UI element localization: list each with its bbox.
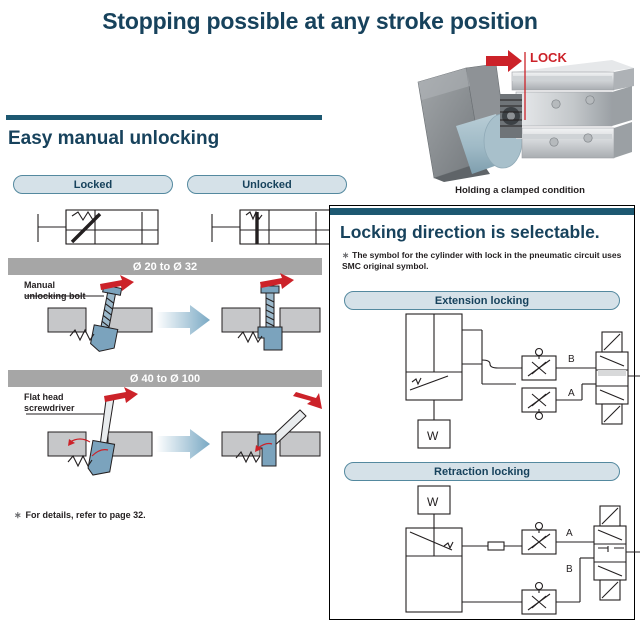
section-rule [6,115,322,120]
pill-retraction-locking-label: Retraction locking [434,466,530,478]
directional-valve [596,332,628,424]
state-pill-locked-label: Locked [74,179,113,191]
pill-extension-locking: Extension locking [344,291,620,310]
circuit-retraction-locking: W [336,484,628,618]
size-band-large-label: Ø 40 to Ø 100 [130,373,200,385]
footnote: ∗For details, refer to page 32. [14,510,146,521]
screwdriver-state-tilted [48,398,152,478]
panel-note-bullet: ∗ [342,250,349,260]
circuit-extension-locking: W [336,312,628,454]
rotate-arrow-right-2 [293,392,322,409]
screwdriver-state-lifted [222,410,320,466]
directional-valve [594,506,626,600]
state-pill-unlocked: Unlocked [187,175,347,194]
state-pill-unlocked-label: Unlocked [242,179,292,191]
illustration-bolt-unlocking [8,272,322,368]
panel-title: Locking direction is selectable. [340,222,600,243]
product-photo: LOCK [404,42,636,182]
size-band-small-label: Ø 20 to Ø 32 [133,261,197,273]
state-pill-locked: Locked [13,175,173,194]
footnote-text: For details, refer to page 32. [26,510,146,520]
panel-note-text: The symbol for the cylinder with lock in… [342,250,621,271]
port-label-bottom: B [566,564,573,575]
section-heading: Easy manual unlocking [8,128,219,150]
photo-caption: Holding a clamped condition [404,185,636,196]
load-label-w: W [427,429,439,443]
lock-label: LOCK [530,50,567,65]
port-label-bottom: A [568,388,575,399]
panel-note: ∗The symbol for the cylinder with lock i… [342,250,630,272]
speed-controller-top [522,349,556,381]
illustration-screwdriver-unlocking [8,386,322,496]
footnote-bullet: ∗ [14,510,22,520]
pill-extension-locking-label: Extension locking [435,295,529,307]
size-band-large: Ø 40 to Ø 100 [8,370,322,387]
bolt-state-vertical [222,286,320,350]
panel-accent-bar [330,208,634,215]
speed-controller-bottom [522,388,556,420]
rotate-arrow-left-2 [104,387,138,403]
pill-retraction-locking: Retraction locking [344,462,620,481]
bolt-state-tilted [48,285,152,354]
speed-controller-top [522,523,556,555]
transition-arrow-1 [156,305,210,335]
speed-controller-bottom [522,583,556,615]
transition-arrow-2 [156,429,210,459]
page-title: Stopping possible at any stroke position [0,8,640,35]
load-label-w: W [427,495,439,509]
datasheet-page: Stopping possible at any stroke position [0,0,640,640]
cylinder-symbol-locked [38,204,188,250]
port-label-top: B [568,354,575,365]
port-label-top: A [566,528,573,539]
